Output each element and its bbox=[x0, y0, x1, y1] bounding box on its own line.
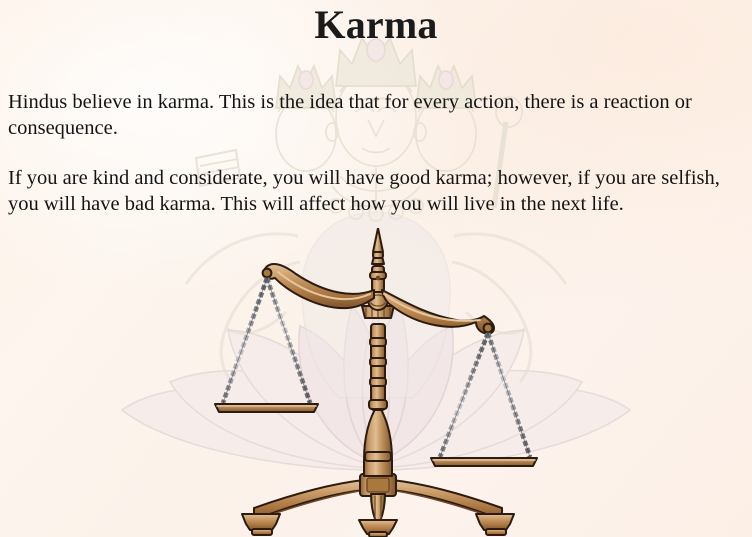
paragraph-good-bad-karma: If you are kind and considerate, you wil… bbox=[8, 165, 748, 217]
scales-of-justice-icon bbox=[168, 228, 588, 537]
paragraph-karma-definition: Hindus believe in karma. This is the ide… bbox=[8, 89, 748, 141]
scale-column bbox=[362, 228, 394, 476]
page-title: Karma bbox=[0, 2, 752, 48]
scale-base bbox=[242, 474, 514, 537]
scale-pan-right bbox=[431, 333, 537, 466]
slide-canvas: Karma Hindus believe in karma. This is t… bbox=[0, 0, 752, 537]
